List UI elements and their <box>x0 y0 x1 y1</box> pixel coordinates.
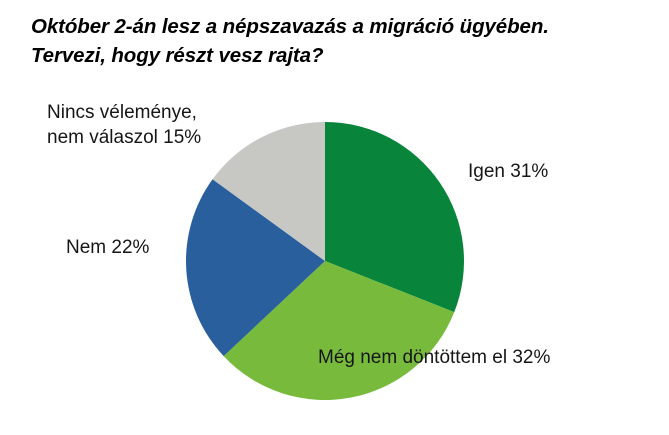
pie-label-nincs-velemenye: Nincs véleménye, nem válaszol 15% <box>47 100 201 151</box>
pie-label-meg-nem-dontottem-el: Még nem döntöttem el 32% <box>318 345 550 370</box>
pie-label-igen: Igen 31% <box>468 159 548 184</box>
pie-label-nem: Nem 22% <box>66 235 149 260</box>
pie-chart-figure: Október 2-án lesz a népszavazás a migrác… <box>0 0 669 435</box>
